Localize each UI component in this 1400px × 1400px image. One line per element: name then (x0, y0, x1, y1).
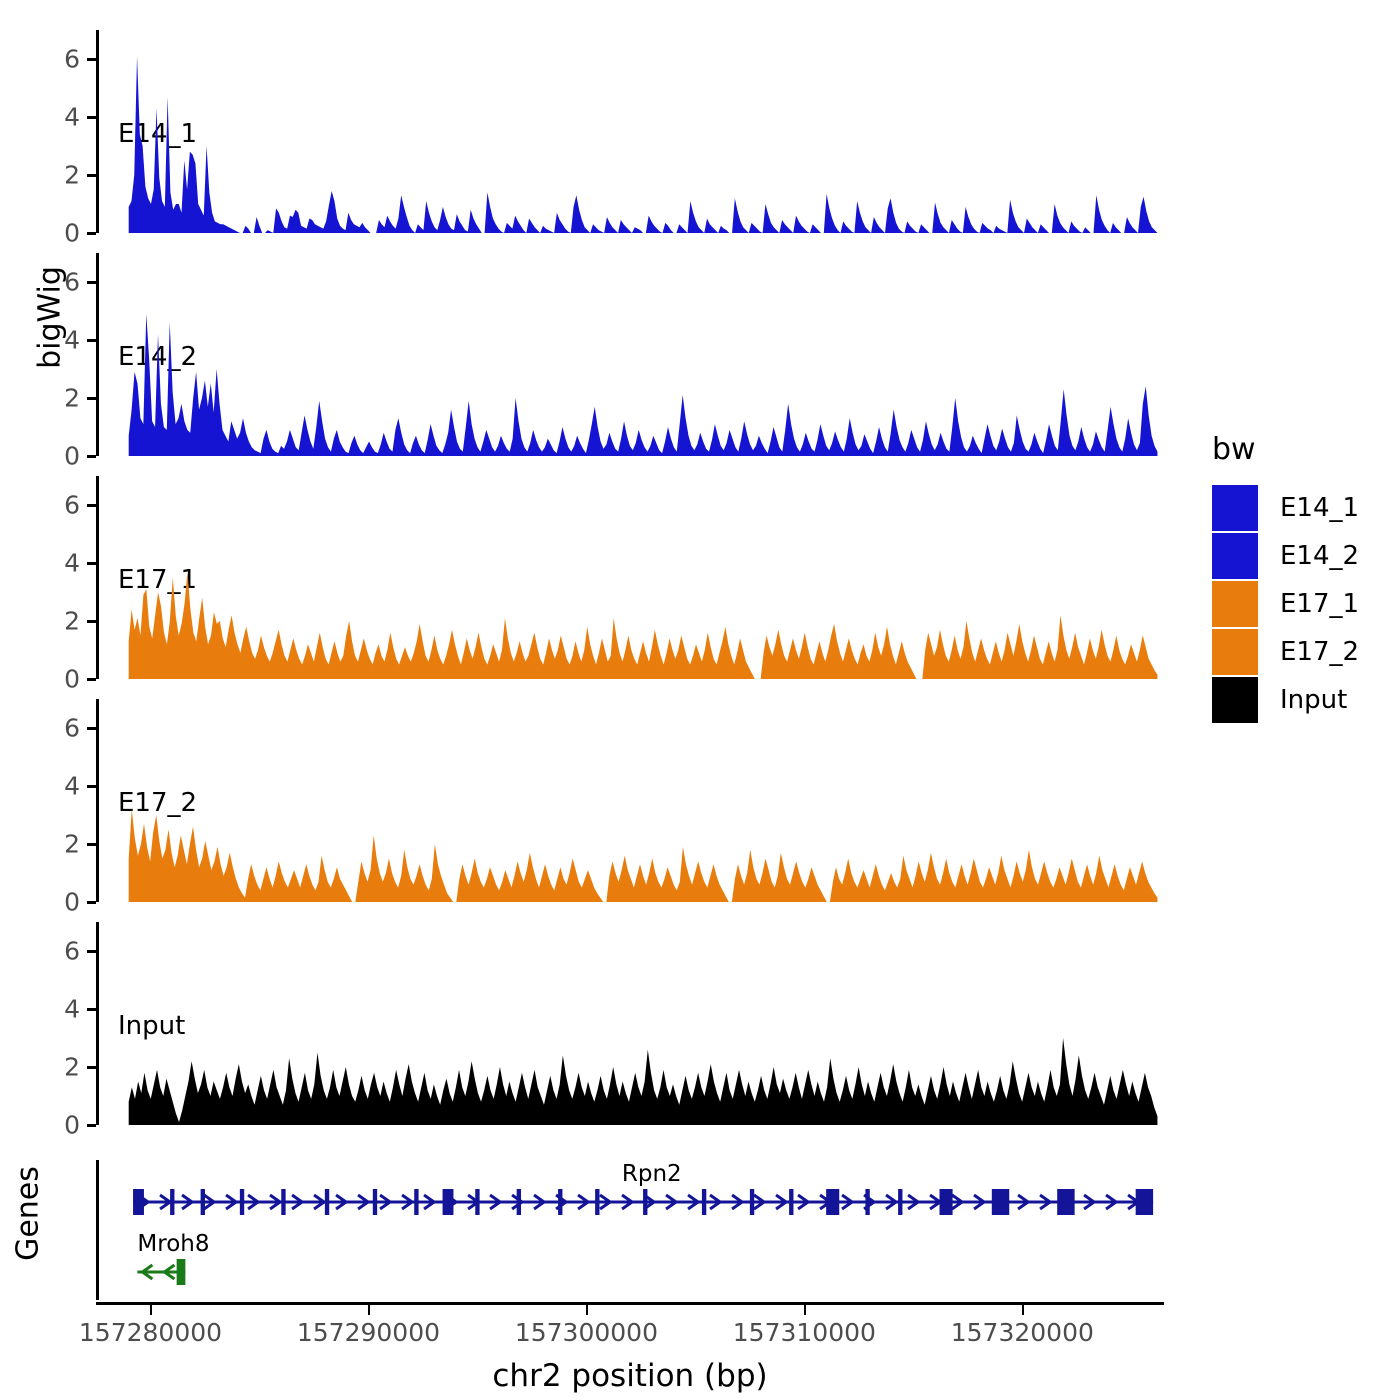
legend-swatch (1212, 533, 1258, 579)
y-tick (87, 174, 96, 177)
exon (475, 1189, 479, 1215)
exon (201, 1189, 205, 1215)
y-tick-label: 2 (64, 384, 80, 413)
exon (643, 1189, 647, 1215)
exon (325, 1189, 329, 1215)
exon (177, 1259, 186, 1285)
legend-items: E14_1E14_2E17_1E17_2Input (1212, 485, 1359, 723)
y-tick (87, 620, 96, 623)
y-tick (87, 678, 96, 681)
legend-swatch (1212, 485, 1258, 531)
exon (702, 1189, 706, 1215)
x-tick (368, 1305, 370, 1315)
y-axis-title: bigWig (33, 228, 68, 408)
y-tick-label: 4 (64, 772, 80, 801)
track-panel-e14_2: 6420E14_2 (96, 253, 1164, 456)
exon (281, 1189, 285, 1215)
exon (826, 1189, 839, 1215)
y-tick-label: 2 (64, 161, 80, 190)
y-tick (87, 1066, 96, 1069)
legend-item-e14_1[interactable]: E14_1 (1212, 485, 1359, 531)
y-tick (87, 785, 96, 788)
y-tick (87, 58, 96, 61)
y-tick (87, 901, 96, 904)
exon (443, 1189, 454, 1215)
gene-label: Mroh8 (137, 1231, 209, 1257)
gene-mroh8: Mroh8 (137, 1231, 209, 1285)
gene-rpn2: Rpn2 (133, 1161, 1153, 1215)
x-tick (1022, 1305, 1024, 1315)
y-tick-label: 4 (64, 549, 80, 578)
legend-label: E17_2 (1280, 637, 1359, 667)
x-axis: 1572800001572900001573000001573100001573… (96, 1302, 1164, 1398)
y-tick (87, 562, 96, 565)
x-tick (586, 1305, 588, 1315)
exon (865, 1189, 869, 1215)
y-tick (87, 727, 96, 730)
y-tick-label: 6 (64, 937, 80, 966)
legend-title: bw (1212, 432, 1359, 467)
gene-label: Rpn2 (622, 1161, 682, 1187)
track-panel-e14_1: 6420E14_1 (96, 30, 1164, 233)
y-tick (87, 1124, 96, 1127)
x-axis-line (96, 1302, 1164, 1305)
legend: bw E14_1E14_2E17_1E17_2Input (1212, 432, 1359, 725)
y-tick-label: 0 (64, 1111, 80, 1140)
y-tick (87, 950, 96, 953)
legend-label: E14_1 (1280, 493, 1359, 523)
exon (558, 1189, 562, 1215)
exon (595, 1189, 599, 1215)
y-tick (87, 504, 96, 507)
y-tick (87, 281, 96, 284)
legend-item-e17_2[interactable]: E17_2 (1212, 629, 1359, 675)
y-tick-label: 6 (64, 45, 80, 74)
x-tick (150, 1305, 152, 1315)
exon (898, 1189, 902, 1215)
y-tick (87, 455, 96, 458)
track-panel-e17_2: 6420E17_2 (96, 699, 1164, 902)
exon (373, 1189, 377, 1215)
y-tick (87, 116, 96, 119)
exon (133, 1189, 144, 1215)
legend-swatch (1212, 629, 1258, 675)
exon (789, 1189, 793, 1215)
signal-area-e17_2 (99, 699, 1164, 902)
y-tick-label: 4 (64, 103, 80, 132)
y-tick-label: 0 (64, 888, 80, 917)
legend-item-e17_1[interactable]: E17_1 (1212, 581, 1359, 627)
exon (1057, 1189, 1074, 1215)
signal-area-e14_1 (99, 30, 1164, 233)
exon (240, 1189, 244, 1215)
exon (170, 1189, 174, 1215)
exon (750, 1189, 754, 1215)
y-tick-label: 6 (64, 491, 80, 520)
y-tick (87, 1008, 96, 1011)
exon (940, 1189, 953, 1215)
y-tick (87, 339, 96, 342)
legend-swatch (1212, 677, 1258, 723)
signal-area-input (99, 922, 1164, 1125)
exon (414, 1189, 418, 1215)
y-tick-label: 2 (64, 607, 80, 636)
genes-track: Rpn2Mroh8 (96, 1160, 1164, 1300)
x-tick-label: 157300000 (515, 1318, 658, 1347)
y-tick-label: 0 (64, 219, 80, 248)
y-tick-label: 0 (64, 442, 80, 471)
legend-label: E17_1 (1280, 589, 1359, 619)
y-tick-label: 4 (64, 995, 80, 1024)
x-tick-label: 157310000 (733, 1318, 876, 1347)
legend-item-e14_2[interactable]: E14_2 (1212, 533, 1359, 579)
y-tick-label: 2 (64, 830, 80, 859)
exon (1136, 1189, 1153, 1215)
signal-area-e17_1 (99, 476, 1164, 679)
legend-label: Input (1280, 685, 1347, 715)
legend-label: E14_2 (1280, 541, 1359, 571)
y-tick-label: 6 (64, 268, 80, 297)
y-tick (87, 232, 96, 235)
x-axis-title: chr2 position (bp) (96, 1358, 1164, 1394)
x-tick (804, 1305, 806, 1315)
genes-axis-title: Genes (11, 1134, 46, 1294)
genes-track-content: Rpn2Mroh8 (99, 1160, 1164, 1300)
track-panel-e17_1: 6420E17_1 (96, 476, 1164, 679)
x-tick-label: 157290000 (297, 1318, 440, 1347)
y-tick (87, 397, 96, 400)
y-tick (87, 843, 96, 846)
y-tick-label: 0 (64, 665, 80, 694)
legend-item-input[interactable]: Input (1212, 677, 1359, 723)
x-tick-label: 157320000 (951, 1318, 1094, 1347)
track-panel-input: 6420Input (96, 922, 1164, 1125)
exon (992, 1189, 1009, 1215)
y-tick-label: 6 (64, 714, 80, 743)
exon (517, 1189, 521, 1215)
signal-area-e14_2 (99, 253, 1164, 456)
y-tick-label: 4 (64, 326, 80, 355)
legend-swatch (1212, 581, 1258, 627)
x-tick-label: 157280000 (79, 1318, 222, 1347)
y-tick-label: 2 (64, 1053, 80, 1082)
